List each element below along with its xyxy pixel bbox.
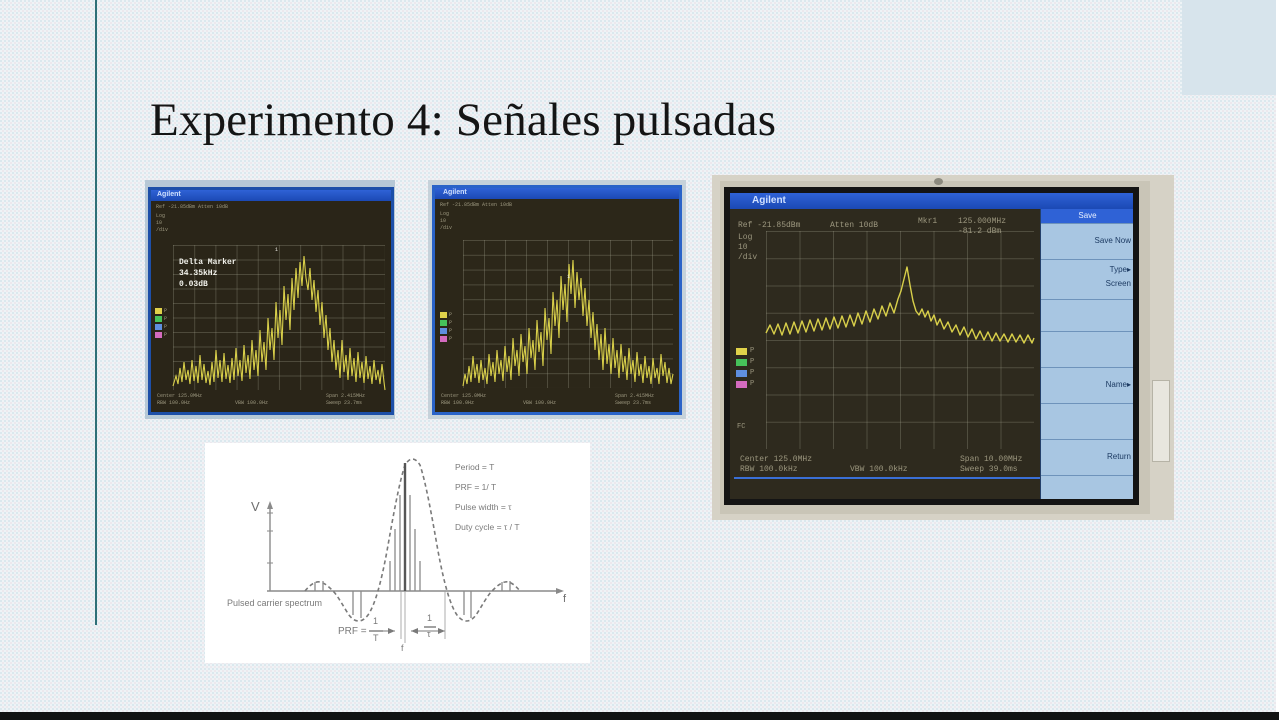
trace-waveform-2: [435, 188, 679, 412]
footer-sweep-2: Sweep 23.7ms: [615, 400, 651, 406]
footer-center-1: Center 125.0MHz: [157, 393, 202, 399]
prf-formula-denominator: T: [373, 633, 379, 643]
slide-canvas: Experimento 4: Señales pulsadas Agilent …: [0, 0, 1279, 720]
axis-label-x: f: [563, 593, 566, 605]
footer-span-1: Span 2.415MHz: [326, 393, 365, 399]
marker-tick-1: 1: [275, 247, 278, 253]
footer-sweep-1: Sweep 23.7ms: [326, 400, 362, 406]
softkey-title-save: Save: [1041, 209, 1133, 224]
fc-tick-label: f: [401, 643, 404, 653]
softkey-type[interactable]: Type▸ Screen: [1041, 259, 1133, 300]
spectrum-analyzer-photo-2: Agilent Ref -21.85dBm Atten 10dB Log 10 …: [428, 180, 686, 419]
footer-rbw-1: RBW 100.0Hz: [157, 400, 190, 406]
footer-vbw-1: VBW 100.0Hz: [235, 400, 268, 406]
accent-vertical-rule: [95, 0, 97, 625]
softkey-name[interactable]: Name▸: [1041, 367, 1133, 404]
spectrum-analyzer-photo-1: Agilent Ref -21.85dBm Atten 10dB Log 10 …: [145, 180, 395, 419]
footer-vbw-2: VBW 100.0Hz: [523, 400, 556, 406]
footer-sweep-3: Sweep 39.0ms: [960, 465, 1018, 474]
footer-rbw-2: RBW 100.0Hz: [441, 400, 474, 406]
spectrum-analyzer-photo-3: Agilent Ref -21.85dBm Atten 10dB Log 10 …: [712, 175, 1174, 520]
trace-waveform-1: [151, 190, 391, 412]
annotation-prf: PRF = 1/ T: [455, 482, 496, 492]
tau-formula-numerator: 1: [427, 613, 432, 623]
softkey-save-now[interactable]: Save Now: [1041, 223, 1133, 260]
softkey-blank-2[interactable]: [1041, 331, 1133, 368]
footer-center-2: Center 125.0MHz: [441, 393, 486, 399]
prf-formula-label: PRF =: [338, 626, 367, 637]
pulsed-carrier-spectrum-diagram: V f Pulsed carrier spectrum Period = T P…: [205, 443, 590, 663]
annotation-duty-cycle: Duty cycle = τ / T: [455, 522, 520, 532]
softkey-type-value: Screen: [1041, 277, 1131, 291]
bottom-bar: [0, 712, 1279, 720]
marker-tick-2: 1: [567, 274, 570, 280]
tau-formula-denominator: τ: [427, 629, 431, 639]
diagram-caption: Pulsed carrier spectrum: [227, 598, 322, 608]
footer-rbw-3: RBW 100.0kHz: [740, 465, 798, 474]
accent-block: [1182, 0, 1279, 95]
axis-label-y: V: [251, 499, 260, 514]
softkey-blank-3[interactable]: [1041, 403, 1133, 440]
footer-span-3: Span 10.00MHz: [960, 455, 1022, 464]
softkey-type-label: Type▸: [1041, 263, 1131, 277]
footer-span-2: Span 2.415MHz: [615, 393, 654, 399]
footer-center-3: Center 125.0MHz: [740, 455, 812, 464]
prf-formula-numerator: 1: [373, 616, 378, 626]
softkey-return[interactable]: Return: [1041, 439, 1133, 476]
footer-vbw-3: VBW 100.0kHz: [850, 465, 908, 474]
softkey-blank-1[interactable]: [1041, 295, 1133, 332]
page-title: Experimento 4: Señales pulsadas: [150, 96, 776, 145]
diagram-svg: [205, 443, 590, 663]
softkey-panel[interactable]: Save Save Now Type▸ Screen Name▸ Return: [1040, 209, 1133, 499]
annotation-pulse-width: Pulse width = τ: [455, 502, 512, 512]
annotation-period: Period = T: [455, 462, 494, 472]
